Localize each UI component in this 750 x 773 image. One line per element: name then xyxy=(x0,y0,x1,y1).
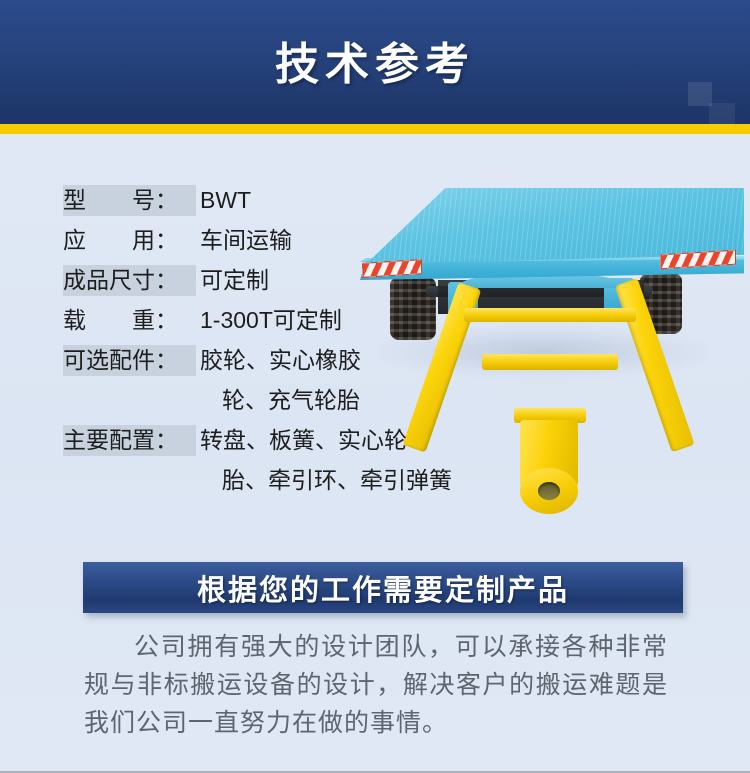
spec-value: BWT xyxy=(196,185,403,216)
spec-value: 胶轮、实心橡胶 xyxy=(196,345,403,376)
drawbar-crossbar-1 xyxy=(464,308,636,322)
spec-label: 应 用： xyxy=(63,225,196,256)
spec-value-continuation-row: 胎、牵引环、牵引弹簧 xyxy=(63,465,403,496)
spec-value: 1-300T可定制 xyxy=(196,305,403,336)
accent-divider xyxy=(0,124,750,134)
spec-row: 载 重： 1-300T可定制 xyxy=(63,305,403,336)
spec-row: 应 用： 车间运输 xyxy=(63,225,403,256)
spec-label: 成品尺寸： xyxy=(63,265,196,296)
page-header: 技术参考 xyxy=(0,0,750,124)
spec-row: 可选配件： 胶轮、实心橡胶 xyxy=(63,345,403,376)
spec-value-continuation: 轮、充气轮胎 xyxy=(196,385,360,416)
product-spec-page: 技术参考 xyxy=(0,0,750,773)
spec-value-continuation: 胎、牵引环、牵引弹簧 xyxy=(196,465,452,496)
spec-label: 载 重： xyxy=(63,305,196,336)
spec-label: 主要配置： xyxy=(63,425,196,456)
spec-label: 型 号： xyxy=(63,185,196,216)
spec-row: 主要配置： 转盘、板簧、实心轮 xyxy=(63,425,403,456)
spec-row: 成品尺寸： 可定制 xyxy=(63,265,403,296)
spec-value: 车间运输 xyxy=(196,225,403,256)
spec-value: 转盘、板簧、实心轮 xyxy=(196,425,407,456)
spec-table: 型 号： BWT 应 用： 车间运输 成品尺寸： 可定制 载 重： 1-300T… xyxy=(63,185,403,505)
slogan-text: 根据您的工作需要定制产品 xyxy=(197,567,569,609)
description-paragraph: 公司拥有强大的设计团队，可以承接各种非常规与非标搬运设备的设计，解决客户的搬运难… xyxy=(84,628,668,742)
slogan-banner: 根据您的工作需要定制产品 xyxy=(83,562,683,613)
spec-value-continuation-row: 轮、充气轮胎 xyxy=(63,385,403,416)
page-title: 技术参考 xyxy=(0,28,750,92)
spec-row: 型 号： BWT xyxy=(63,185,403,216)
tow-eye-hole xyxy=(538,482,560,500)
spec-value: 可定制 xyxy=(196,265,403,296)
spec-label: 可选配件： xyxy=(63,345,196,376)
offset-squares-icon-secondary xyxy=(709,103,735,124)
drawbar-crossbar-2 xyxy=(482,354,618,370)
tow-drawbar xyxy=(448,282,648,518)
